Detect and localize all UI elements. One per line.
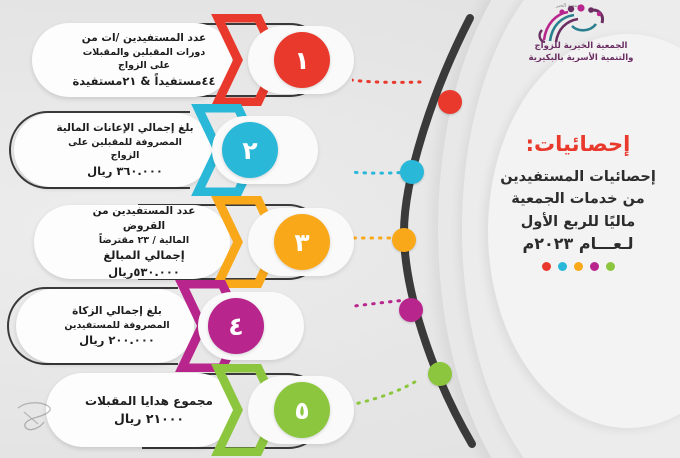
statistics-subtitle-line-3: ماليًا للربع الأول — [494, 211, 662, 233]
designer-signature-watermark — [14, 394, 60, 434]
spine-node-1 — [438, 90, 462, 114]
logo-org-line-1: الجمعية الخيرية للزواج — [494, 40, 668, 52]
statistics-subtitle-line-1: إحصائيات المستفيدين — [494, 166, 662, 188]
stat-number-4[interactable]: ٤ — [208, 298, 264, 354]
stat-line3-3: إجمالي المبالغ ٥٣٠.٠٠٠ريال — [74, 247, 214, 280]
stat-row-4: بلغ إجمالي الزكاة المصروفة للمستفيدين ٢٠… — [0, 280, 360, 372]
stat-row-3: عدد المستفيدين من القروض المالية / ٢٣ مق… — [0, 196, 360, 288]
spine-node-2 — [400, 160, 424, 184]
stat-line2-3: المالية / ٢٣ مقترضاً — [74, 234, 214, 247]
color-dot-green — [606, 262, 615, 271]
logo-org-line-2: والتنمية الأسرية بالبكيرية — [494, 52, 668, 64]
connector-5 — [352, 380, 418, 412]
stat-line2-1: دورات المقبلين والمقبلات على الزواج — [72, 46, 216, 73]
spine-node-5 — [428, 362, 452, 386]
infographic-canvas: عدد المستفيدين /ات من دورات المقبلين وال… — [0, 0, 680, 458]
spine-node-4 — [399, 298, 423, 322]
stat-line1-1: عدد المستفيدين /ات من — [72, 31, 216, 46]
statistics-subtitle-line-2: من خدمات الجمعية — [494, 188, 662, 210]
stat-line1-2: بلغ إجمالي الإعانات المالية — [54, 121, 196, 136]
stat-number-2[interactable]: ٢ — [222, 122, 278, 178]
charity-swoosh-logo-icon — [536, 4, 610, 44]
stat-number-5[interactable]: ٥ — [274, 382, 330, 438]
color-dot-row — [494, 262, 662, 271]
statistics-headline-block: إحصائيات: إحصائيات المستفيدين من خدمات ا… — [494, 132, 662, 271]
statistics-title: إحصائيات: — [494, 132, 662, 156]
stat-row-1: عدد المستفيدين /ات من دورات المقبلين وال… — [0, 14, 360, 106]
statistics-year: لـعـــام ٢٠٢٣م — [494, 234, 662, 253]
stat-line3-2: ٣٦٠.٠٠٠ ريال — [54, 163, 196, 179]
stat-line3-1: ٤٤مستفيداً & ٢١مستفيدة — [72, 73, 216, 89]
stat-row-2: بلغ إجمالي الإعانات المالية المصروفة للم… — [0, 104, 360, 196]
spine-node-3 — [392, 228, 416, 252]
stat-number-3[interactable]: ٣ — [274, 214, 330, 270]
stat-number-1[interactable]: ١ — [274, 32, 330, 88]
connector-4 — [352, 300, 406, 318]
color-dot-cyan — [558, 262, 567, 271]
logo-org-name: الجمعية الخيرية للزواج والتنمية الأسرية … — [494, 40, 668, 65]
connector-1 — [352, 50, 420, 82]
connector-layer — [352, 0, 512, 458]
color-dot-magenta — [590, 262, 599, 271]
organization-logo: جمعية الخير الجمعية الخيرية للزواج والتن… — [492, 4, 670, 72]
color-dot-orange — [574, 262, 583, 271]
stat-line1-3: عدد المستفيدين من القروض — [74, 204, 214, 234]
stat-line2-2: المصروفة للمقبلين على الزواج — [54, 136, 196, 163]
color-dot-red — [542, 262, 551, 271]
